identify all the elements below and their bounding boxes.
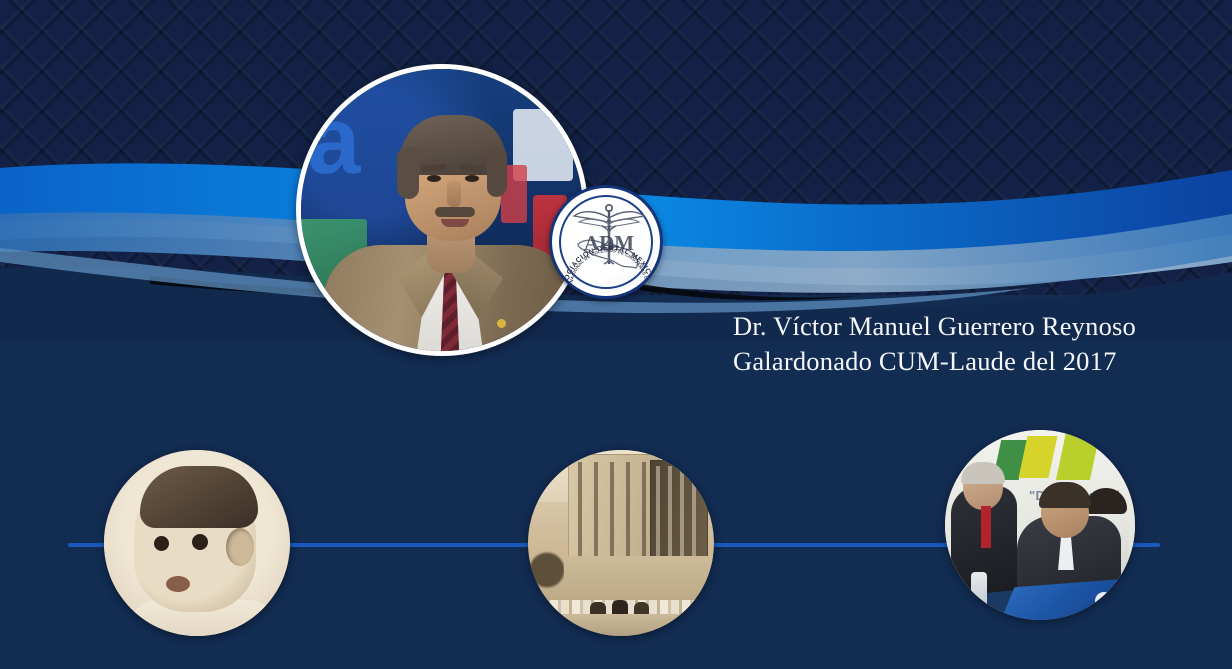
attendee-left-tie <box>981 506 991 548</box>
hair-side-left <box>397 147 419 199</box>
timeline-photo-ceremony: "Dr. Jaime Avi <box>945 430 1135 620</box>
lapel-pin <box>497 319 506 328</box>
portrait-photo-victor-guerrero: a <box>296 64 588 356</box>
asociacion-dental-mexicana-logo: ADM ASOCIACIÓN DENTAL MEXICANA FEDERACIÓ… <box>549 185 663 299</box>
portrait-subject <box>301 69 588 356</box>
group-photo <box>528 450 714 636</box>
mouth <box>441 219 469 227</box>
ground <box>528 614 714 636</box>
hair-side-right <box>487 147 507 197</box>
baby-photo <box>104 450 290 636</box>
timeline-photo-university <box>528 450 714 636</box>
portrait-image: a <box>301 69 583 351</box>
eye-right <box>465 175 479 182</box>
baby-eye-left <box>154 536 169 551</box>
water-bottle <box>971 572 987 614</box>
banner-stage: a <box>0 0 1232 669</box>
building-tower-dark <box>650 460 708 566</box>
building-tower-light <box>568 454 660 566</box>
ceremony-photo: "Dr. Jaime Avi <box>945 430 1135 620</box>
headline-award: Galardonado CUM-Laude del 2017 <box>733 344 1203 379</box>
headline-block: Dr. Víctor Manuel Guerrero Reynoso Galar… <box>733 309 1203 379</box>
moustache <box>435 207 475 217</box>
baby-ear <box>226 528 254 566</box>
nose <box>447 181 461 207</box>
table-banner-logo-icon <box>1095 592 1113 610</box>
baby-hair <box>140 466 258 528</box>
baby-mouth <box>166 576 190 592</box>
tree <box>530 550 564 590</box>
baby-eye-right <box>192 534 208 550</box>
logo-artwork: ADM ASOCIACIÓN DENTAL MEXICANA FEDERACIÓ… <box>552 188 663 299</box>
headline-name: Dr. Víctor Manuel Guerrero Reynoso <box>733 309 1203 344</box>
eye-left <box>427 175 441 182</box>
timeline-photo-infancy <box>104 450 290 636</box>
